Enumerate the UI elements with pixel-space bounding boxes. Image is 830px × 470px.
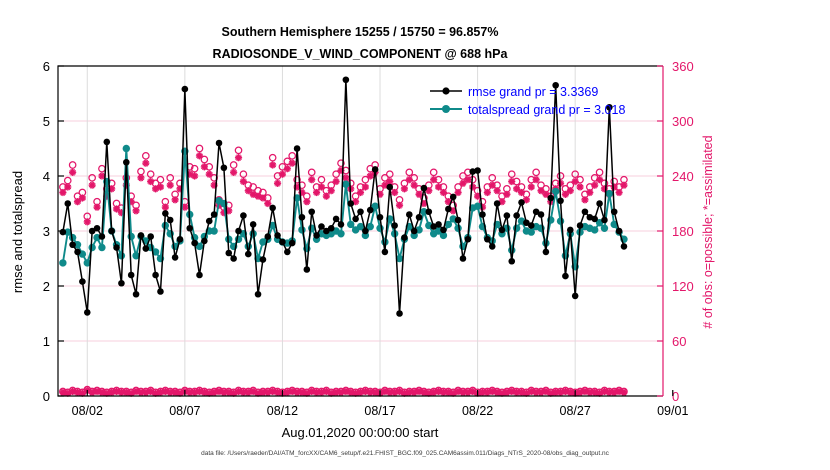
rmse-point [406,211,413,218]
rmse-point [562,273,569,280]
rmse-point [308,208,315,215]
y-tick-label-right: 60 [672,334,686,349]
data-file-footer: data file: /Users/raeder/DAI/ATM_forcXX/… [201,450,610,457]
rmse-point [465,236,472,243]
rmse-point [411,228,418,235]
rmse-point [294,145,301,152]
rmse-point [499,227,506,234]
x-tick-label: 08/02 [72,404,103,418]
rmse-point [450,194,457,201]
rmse-point [128,272,135,279]
rmse-point [440,227,447,234]
rmse-point [152,272,159,279]
totalspread-point [557,217,564,224]
totalspread-point [88,244,95,251]
rmse-point [528,222,535,229]
rmse-point [64,200,71,207]
rmse-point [84,309,91,316]
rmse-point [362,228,369,235]
y-tick-label-left: 5 [43,114,50,129]
totalspread-point [123,145,130,152]
rmse-point [435,221,442,228]
rmse-point [211,211,218,218]
rmse-point [206,218,213,225]
rmse-point [338,221,345,228]
rmse-point [572,293,579,300]
totalspread-point [98,244,105,251]
rmse-point [182,86,189,93]
rmse-point [333,216,340,223]
y-tick-label-right: 360 [672,59,694,74]
rmse-point [391,222,398,229]
rmse-point [543,249,550,256]
rmse-point [143,245,150,252]
rmse-point [508,258,515,265]
rmse-point [328,225,335,232]
rmse-point [157,288,164,295]
rmse-point [147,233,154,240]
rmse-point [367,207,374,214]
rmse-point [69,241,76,248]
totalspread-point [342,181,349,188]
rmse-point [274,232,281,239]
rmse-point [582,208,589,215]
rmse-point [577,222,584,229]
chart-title-line2: RADIOSONDE_V_WIND_COMPONENT @ 688 hPa [213,47,509,61]
totalspread-point [552,188,559,195]
rmse-point [489,243,496,250]
rmse-point [108,228,115,235]
rmse-point [289,240,296,247]
rmse-point [347,200,354,207]
totalspread-point [528,228,535,235]
rmse-point [518,199,525,206]
rmse-point [484,236,491,243]
rmse-point [172,254,179,261]
rmse-point [177,236,184,243]
x-tick-label: 08/17 [364,404,395,418]
rmse-point [421,185,428,192]
y-tick-label-left: 4 [43,169,50,184]
rmse-point [230,255,237,262]
x-tick-label: 09/01 [657,404,688,418]
legend-label-totalspread: totalspread grand pr = 3.018 [468,103,625,117]
rmse-point [221,164,228,171]
rmse-point [416,214,423,221]
rmse-point [621,243,628,250]
rmse-point [460,255,467,262]
observation-diagnostic-chart: Southern Hemisphere 15255 / 15750 = 96.8… [0,0,830,470]
rmse-point [113,244,120,251]
rmse-point [60,229,67,236]
rmse-point [591,216,598,223]
y-axis-label-left: rmse and totalspread [10,171,25,293]
rmse-point [479,211,486,218]
y-axis-label-right: # of obs: o=possible; *=assimilated [701,135,715,328]
rmse-point [250,221,257,228]
y-tick-label-right: 120 [672,279,694,294]
rmse-point [386,184,393,191]
rmse-point [504,212,511,219]
rmse-point [103,139,110,146]
totalspread-point [59,259,66,266]
totalspread-point [127,233,134,240]
rmse-point [133,291,140,298]
rmse-point [382,249,389,256]
y-tick-label-left: 2 [43,279,50,294]
rmse-point [245,251,252,258]
y-tick-label-left: 1 [43,334,50,349]
rmse-point [547,195,554,202]
rmse-point [426,208,433,215]
rmse-point [284,249,291,256]
rmse-point [279,239,286,246]
rmse-point [538,211,545,218]
rmse-point [494,200,501,207]
rmse-point [372,166,379,173]
totalspread-point [508,247,515,254]
x-tick-label: 08/07 [169,404,200,418]
totalspread-point [337,230,344,237]
y-tick-label-right: 300 [672,114,694,129]
rmse-point [191,240,198,247]
totalspread-point [606,190,613,197]
rmse-point [343,76,350,83]
x-tick-label: 08/22 [462,404,493,418]
rmse-point [186,225,193,232]
rmse-point [235,228,242,235]
rmse-point [94,225,101,232]
legend-marker-rmse [442,87,449,94]
rmse-point [225,250,232,257]
totalspread-point [591,226,598,233]
x-axis-label: Aug.01,2020 00:00:00 start [282,425,439,440]
rmse-point [240,212,247,219]
y-tick-label-left: 6 [43,59,50,74]
rmse-point [79,278,86,285]
rmse-point [304,266,311,273]
rmse-point [99,233,106,240]
rmse-point [401,234,408,241]
rmse-point [513,212,520,219]
rmse-point [596,200,603,207]
rmse-point [567,227,574,234]
totalspread-point [298,226,305,233]
totalspread-point [474,203,481,210]
rmse-point [616,228,623,235]
rmse-point [216,140,223,147]
y-tick-label-right: 240 [672,169,694,184]
rmse-point [601,217,608,224]
rmse-point [118,280,125,287]
x-tick-label: 08/27 [560,404,591,418]
y-tick-label-left: 0 [43,389,50,404]
totalspread-point [118,252,125,259]
x-tick-label: 08/12 [267,404,298,418]
legend-label-rmse: rmse grand pr = 3.3369 [468,85,598,99]
rmse-point [557,197,564,204]
rmse-point [167,217,174,224]
totalspread-point [347,221,354,228]
rmse-point [123,159,130,166]
rmse-point [445,206,452,213]
y-tick-label-left: 3 [43,224,50,239]
rmse-point [196,272,203,279]
rmse-point [474,167,481,174]
rmse-point [455,217,462,224]
rmse-point [260,256,267,263]
totalspread-point [601,225,608,232]
totalspread-point [210,227,217,234]
rmse-point [318,223,325,230]
rmse-point [313,232,320,239]
totalspread-point [513,225,520,232]
rmse-point [74,249,81,256]
rmse-point [269,205,276,212]
rmse-point [255,291,262,298]
rmse-point [357,208,364,215]
y-tick-label-right: 180 [672,224,694,239]
rmse-point [162,210,169,217]
rmse-point [299,214,306,221]
rmse-point [377,214,384,221]
rmse-point [611,208,618,215]
rmse-point [138,232,145,239]
rmse-point [264,233,271,240]
chart-title-line1: Southern Hemisphere 15255 / 15750 = 96.8… [222,25,499,39]
rmse-point [396,310,403,317]
rmse-point [201,238,208,245]
rmse-point [352,216,359,223]
legend-marker-totalspread [442,105,450,113]
